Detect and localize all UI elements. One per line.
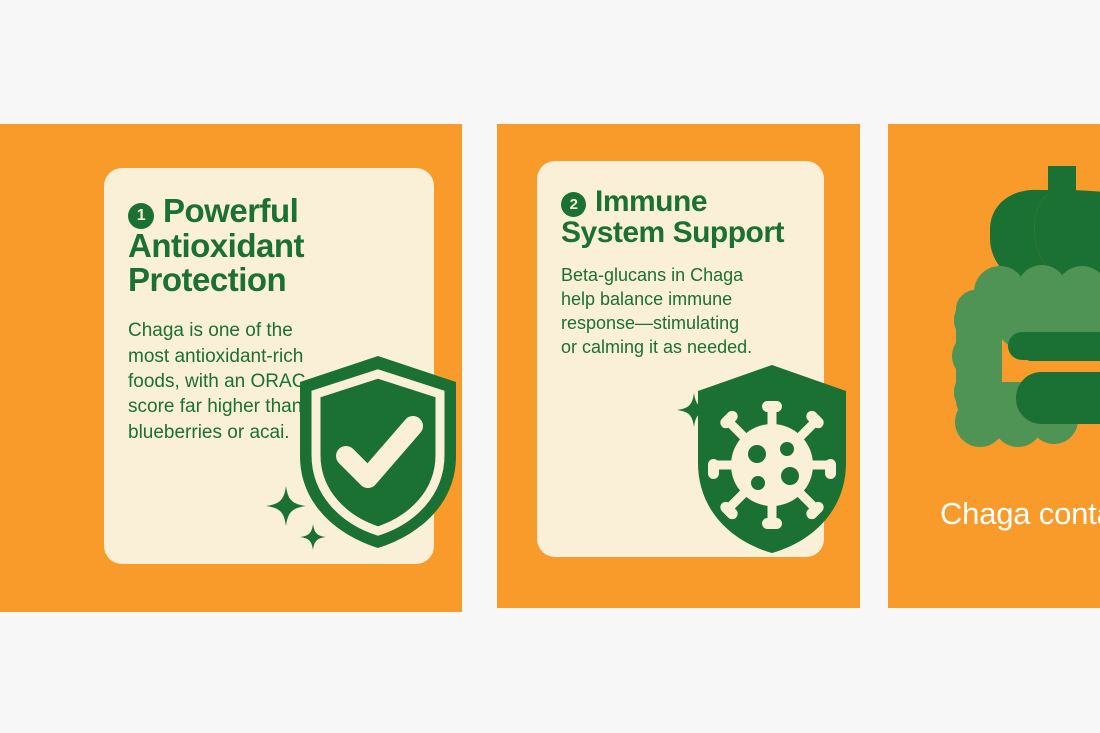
card-1-heading: 1Powerful Antioxidant Protection: [128, 194, 410, 296]
card-content: 2Immune System Support Beta-glucans in C…: [537, 161, 824, 557]
card-1-heading-text: Powerful Antioxidant Protection: [128, 192, 304, 298]
sparkle-icon: [266, 486, 306, 526]
step-number-badge-1: 1: [128, 203, 154, 229]
slide-benefit-1[interactable]: 1Powerful Antioxidant Protection Chaga i…: [0, 124, 462, 612]
card-1-body: Chaga is one of the most antioxidant-ric…: [128, 318, 333, 444]
card-2-heading-text: Immune System Support: [561, 185, 784, 249]
card-2-heading: 2Immune System Support: [561, 187, 800, 248]
slide-benefit-3[interactable]: Chaga conta: [888, 124, 1100, 608]
step-number-badge-2: 2: [561, 192, 586, 217]
slide-benefit-2[interactable]: 2Immune System Support Beta-glucans in C…: [497, 124, 860, 608]
carousel-stage: A OM 1Powerful Antioxidant Protection Ch…: [0, 0, 1100, 733]
sparkle-icon: [677, 393, 711, 427]
sparkle-icon: [300, 524, 326, 550]
card-2-body: Beta-glucans in Chaga help balance immun…: [561, 264, 753, 360]
benefit-card-antioxidant[interactable]: 1Powerful Antioxidant Protection Chaga i…: [104, 168, 434, 564]
benefit-card-immune[interactable]: 2Immune System Support Beta-glucans in C…: [537, 161, 824, 557]
panel-3-caption: Chaga conta: [940, 496, 1100, 532]
digestive-system-icon: [930, 160, 1100, 470]
